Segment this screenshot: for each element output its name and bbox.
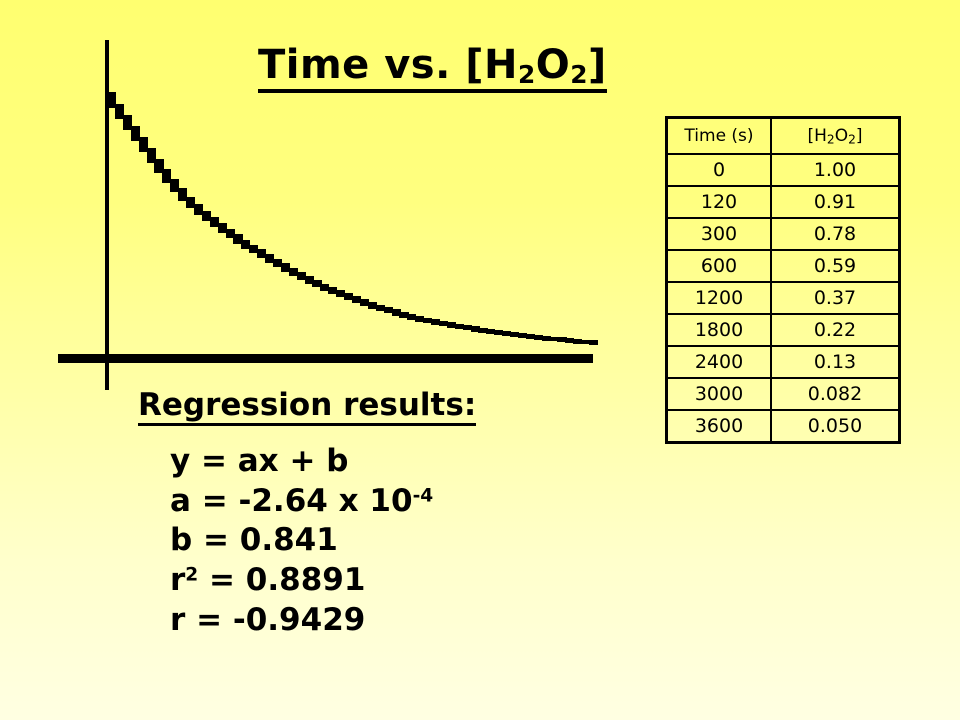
cell-time: 300 [667,218,772,250]
conc-header-prefix: [H [807,126,826,146]
regression-lines: y = ax + b a = -2.64 x 10-4 b = 0.841 r2… [170,442,558,640]
cell-concentration: 0.78 [771,218,900,250]
column-header-time: Time (s) [667,118,772,155]
table-row: 3000.78 [667,218,900,250]
regression-line-r: r = -0.9429 [170,601,558,641]
table-row: 30000.082 [667,378,900,410]
regression-a-exponent: -4 [413,485,434,506]
slide-canvas: Time vs. [H2O2] Regression results: y = … [0,0,960,720]
curve-segment [589,340,598,345]
regression-r2-prefix: r [170,562,185,598]
page-title: Time vs. [H2O2] [258,44,607,93]
data-table-container: Time (s) [H2O2] 01.001200.913000.786000.… [665,116,901,444]
regression-line-r2: r2 = 0.8891 [170,561,558,601]
conc-header-sub2: 2 [848,132,856,146]
cell-concentration: 0.050 [771,410,900,443]
title-text-2: O [536,42,571,88]
table-row: 12000.37 [667,282,900,314]
cell-time: 1200 [667,282,772,314]
data-table: Time (s) [H2O2] 01.001200.913000.786000.… [665,116,901,444]
cell-time: 2400 [667,346,772,378]
column-header-concentration: [H2O2] [771,118,900,155]
conc-header-suffix: ] [856,126,863,146]
regression-line-a: a = -2.64 x 10-4 [170,482,558,522]
table-header-row: Time (s) [H2O2] [667,118,900,155]
cell-concentration: 1.00 [771,154,900,186]
regression-a-prefix: a = -2.64 x 10 [170,483,413,519]
title-text-3: ] [588,42,607,88]
cell-concentration: 0.22 [771,314,900,346]
table-row: 36000.050 [667,410,900,443]
table-row: 1200.91 [667,186,900,218]
regression-line-equation: y = ax + b [170,442,558,482]
cell-concentration: 0.082 [771,378,900,410]
conc-header-mid: O [835,126,848,146]
cell-concentration: 0.13 [771,346,900,378]
table-row: 6000.59 [667,250,900,282]
regression-heading: Regression results: [138,388,476,426]
cell-time: 600 [667,250,772,282]
regression-results-block: Regression results: y = ax + b a = -2.64… [138,388,558,640]
cell-concentration: 0.91 [771,186,900,218]
title-sub-2: 2 [570,60,588,93]
cell-time: 3000 [667,378,772,410]
title-text-1: Time vs. [H [258,42,518,88]
table-row: 18000.22 [667,314,900,346]
cell-concentration: 0.37 [771,282,900,314]
regression-r2-exponent: 2 [185,564,198,585]
data-table-head: Time (s) [H2O2] [667,118,900,155]
cell-time: 120 [667,186,772,218]
cell-time: 0 [667,154,772,186]
data-table-body: 01.001200.913000.786000.5912000.3718000.… [667,154,900,443]
cell-time: 3600 [667,410,772,443]
cell-time: 1800 [667,314,772,346]
title-sub-1: 2 [518,60,536,93]
table-row: 01.00 [667,154,900,186]
regression-line-b: b = 0.841 [170,521,558,561]
table-row: 24000.13 [667,346,900,378]
cell-concentration: 0.59 [771,250,900,282]
regression-r2-value: = 0.8891 [198,562,365,598]
conc-header-sub1: 2 [827,132,835,146]
